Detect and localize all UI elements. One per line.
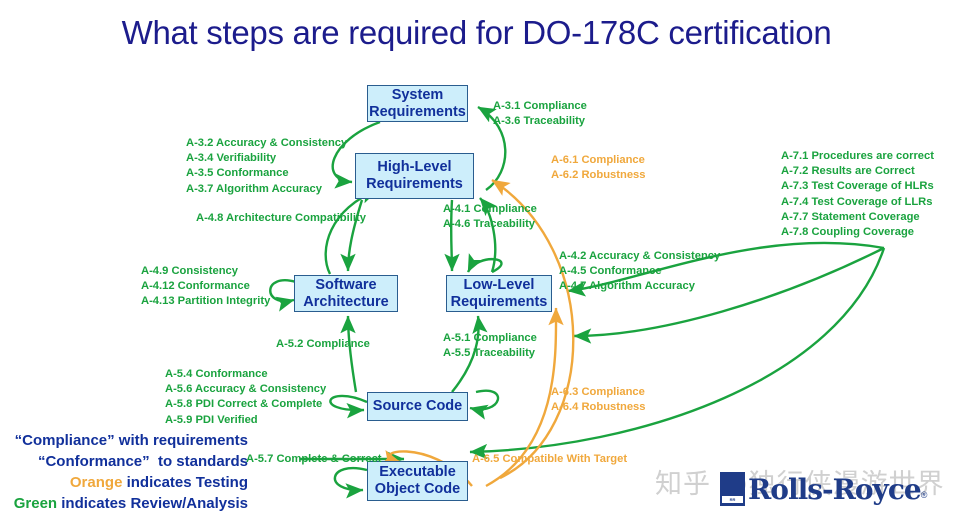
legend-orange-rest: indicates Testing	[122, 474, 248, 491]
annotation-a6-3: A-6.3 Compliance A-6.4 Robustness	[551, 385, 646, 415]
node-label: Low-Level Requirements	[451, 277, 548, 311]
node-label: Software Architecture	[303, 277, 388, 311]
rolls-royce-badge-text: RR	[722, 496, 743, 503]
annotation-a3-2: A-3.2 Accuracy & Consistency A-3.4 Verif…	[186, 136, 347, 197]
rolls-royce-wordmark: Rolls-Royce	[748, 473, 921, 506]
legend-green-key: Green	[14, 495, 57, 512]
arrow-llr-self-loop	[468, 259, 501, 272]
annotation-a4-2: A-4.2 Accuracy & Consistency A-4.5 Confo…	[559, 249, 720, 295]
annotation-a4-9: A-4.9 Consistency A-4.12 Conformance A-4…	[141, 264, 270, 310]
arrow-src-self-loop	[330, 396, 367, 410]
node-source-code[interactable]: Source Code	[367, 392, 468, 421]
annotation-a4-1: A-4.1 Compliance A-4.6 Traceability	[443, 202, 537, 232]
legend-compliance: “Compliance” with requirements	[0, 430, 248, 451]
rolls-royce-logo: RR Rolls-Royce ®	[720, 472, 927, 506]
node-label: High-Level Requirements	[366, 159, 463, 193]
node-high-level-requirements[interactable]: High-Level Requirements	[355, 153, 474, 199]
legend-conformance: “Conformance” to standards	[0, 451, 248, 472]
node-label: System Requirements	[369, 87, 466, 121]
annotation-a7: A-7.1 Procedures are correct A-7.2 Resul…	[781, 149, 934, 240]
node-label: Executable Object Code	[375, 464, 460, 498]
legend-green: Green indicates Review/Analysis	[0, 493, 248, 514]
arrow-src-right-loop	[470, 391, 498, 410]
arrow-swarch-self-loop	[270, 280, 296, 301]
node-executable-object-code[interactable]: Executable Object Code	[367, 461, 468, 501]
legend-orange: Orange indicates Testing	[0, 472, 248, 493]
node-software-architecture[interactable]: Software Architecture	[294, 275, 398, 312]
annotation-a6-5: A-6.5 Compatible With Target	[472, 452, 627, 467]
node-low-level-requirements[interactable]: Low-Level Requirements	[446, 275, 552, 312]
annotation-a3-1: A-3.1 Compliance A-3.6 Traceability	[493, 99, 587, 129]
arrow-eoc-self-loop	[335, 468, 367, 490]
annotation-a5-1: A-5.1 Compliance A-5.5 Traceability	[443, 331, 537, 361]
node-system-requirements[interactable]: System Requirements	[367, 85, 468, 122]
page-title: What steps are required for DO-178C cert…	[0, 14, 953, 52]
node-label: Source Code	[373, 398, 462, 415]
annotation-a6-1: A-6.1 Compliance A-6.2 Robustness	[551, 153, 646, 183]
slide-canvas: What steps are required for DO-178C cert…	[0, 0, 953, 524]
arrow-swarch-to-hlr	[326, 190, 378, 274]
legend-green-rest: indicates Review/Analysis	[57, 495, 248, 512]
annotation-a5-7: A-5.7 Complete & Correct	[246, 452, 382, 467]
rolls-royce-badge-icon: RR	[720, 472, 745, 506]
annotation-a5-2: A-5.2 Compliance	[276, 337, 370, 352]
trademark-symbol: ®	[921, 490, 928, 500]
arrow-src-to-swarch	[348, 316, 356, 392]
legend-orange-key: Orange	[70, 474, 123, 491]
annotation-a5-4: A-5.4 Conformance A-5.6 Accuracy & Consi…	[165, 367, 326, 428]
annotation-a4-8: A-4.8 Architecture Compatibility	[196, 211, 366, 226]
